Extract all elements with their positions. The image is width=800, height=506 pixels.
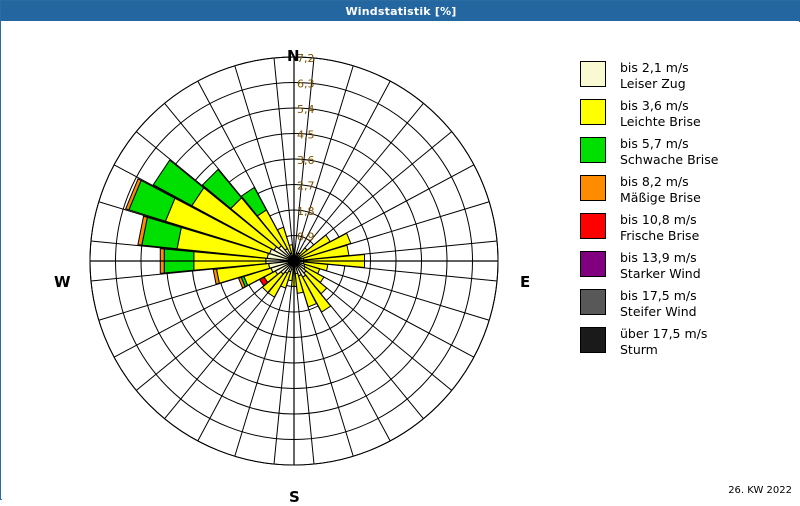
legend-item-text: bis 5,7 m/s Schwache Brise	[620, 136, 718, 168]
legend-swatch-icon	[580, 251, 606, 277]
legend-speed-range: bis 10,8 m/s	[620, 212, 697, 227]
legend-swatch-icon	[580, 99, 606, 125]
legend-item-text: über 17,5 m/s Sturm	[620, 326, 707, 358]
legend-swatch-icon	[580, 61, 606, 87]
radial-tick-label: 0,9	[297, 231, 315, 244]
legend-item: bis 5,7 m/s Schwache Brise	[580, 136, 790, 168]
compass-label-south: S	[289, 488, 300, 506]
radial-tick-label: 4,5	[297, 129, 315, 142]
compass-label-north: N	[287, 47, 300, 65]
legend-swatch-icon	[580, 137, 606, 163]
legend-item-text: bis 8,2 m/s Mäßige Brise	[620, 174, 701, 206]
legend-item: über 17,5 m/s Sturm	[580, 326, 790, 358]
legend-beaufort-name: Starker Wind	[620, 266, 701, 282]
legend-item: bis 13,9 m/s Starker Wind	[580, 250, 790, 282]
legend-beaufort-name: Steifer Wind	[620, 304, 697, 320]
compass-label-west: W	[54, 273, 71, 291]
radial-tick-label: 6,3	[297, 78, 315, 91]
legend-item: bis 2,1 m/s Leiser Zug	[580, 60, 790, 92]
legend-item-text: bis 17,5 m/s Steifer Wind	[620, 288, 697, 320]
legend-item-text: bis 10,8 m/s Frische Brise	[620, 212, 699, 244]
legend-swatch-icon	[580, 327, 606, 353]
legend-speed-range: bis 5,7 m/s	[620, 136, 689, 151]
radial-tick-label: 5,4	[297, 103, 315, 116]
legend-item: bis 3,6 m/s Leichte Brise	[580, 98, 790, 130]
footer-week-label: 26. KW 2022	[728, 485, 792, 496]
legend-speed-range: über 17,5 m/s	[620, 326, 707, 341]
radial-tick-label: 7,2	[297, 52, 315, 65]
legend-beaufort-name: Schwache Brise	[620, 152, 718, 168]
legend-beaufort-name: Sturm	[620, 342, 707, 358]
legend-item: bis 17,5 m/s Steifer Wind	[580, 288, 790, 320]
legend-beaufort-name: Mäßige Brise	[620, 190, 701, 206]
legend-item-text: bis 2,1 m/s Leiser Zug	[620, 60, 689, 92]
compass-label-east: E	[520, 273, 530, 291]
window-title-bar: Windstatistik [%]	[1, 1, 800, 21]
legend-speed-range: bis 13,9 m/s	[620, 250, 697, 265]
legend-beaufort-name: Leiser Zug	[620, 76, 689, 92]
legend-beaufort-name: Frische Brise	[620, 228, 699, 244]
legend-beaufort-name: Leichte Brise	[620, 114, 701, 130]
radial-tick-label: 2,7	[297, 180, 315, 193]
legend-swatch-icon	[580, 175, 606, 201]
radial-tick-label: 3,6	[297, 154, 315, 167]
legend: bis 2,1 m/s Leiser Zug bis 3,6 m/s Leich…	[580, 60, 790, 364]
legend-item: bis 10,8 m/s Frische Brise	[580, 212, 790, 244]
legend-item-text: bis 13,9 m/s Starker Wind	[620, 250, 701, 282]
window-title: Windstatistik [%]	[345, 5, 456, 18]
legend-speed-range: bis 2,1 m/s	[620, 60, 689, 75]
legend-swatch-icon	[580, 213, 606, 239]
legend-speed-range: bis 17,5 m/s	[620, 288, 697, 303]
windrose-app: Windstatistik [%] 0,91,82,73,64,55,46,37…	[0, 0, 800, 500]
legend-speed-range: bis 3,6 m/s	[620, 98, 689, 113]
legend-swatch-icon	[580, 289, 606, 315]
legend-speed-range: bis 8,2 m/s	[620, 174, 689, 189]
legend-item-text: bis 3,6 m/s Leichte Brise	[620, 98, 701, 130]
plot-area: 0,91,82,73,64,55,46,37,2 N E S W bis 2,1…	[2, 22, 800, 500]
legend-item: bis 8,2 m/s Mäßige Brise	[580, 174, 790, 206]
radial-tick-label: 1,8	[297, 205, 315, 218]
